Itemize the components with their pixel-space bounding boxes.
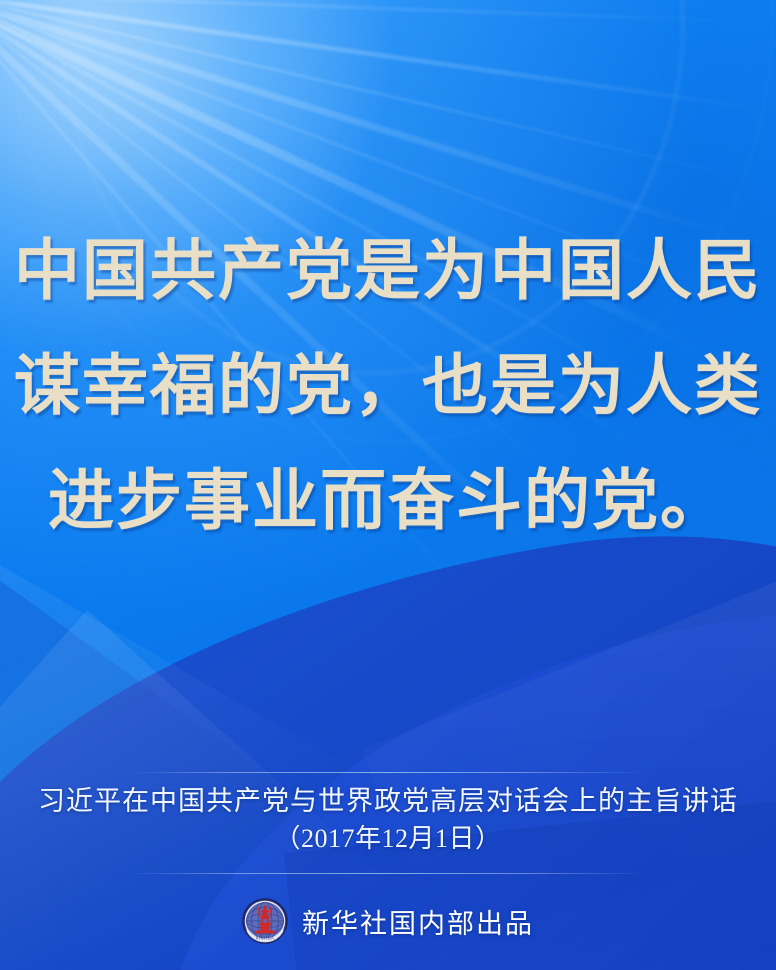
divider-bottom-icon: [128, 873, 648, 874]
attribution-date: （2017年12月1日）: [0, 820, 776, 858]
logo-rim-text: XINHUA: [256, 935, 275, 940]
footer-credit: XINHUA 新华社国内部出品: [0, 898, 776, 944]
divider-top-icon: [128, 772, 648, 773]
attribution-source: 习近平在中国共产党与世界政党高层对话会上的主旨讲话: [0, 782, 776, 820]
xinhua-emblem-icon: XINHUA: [242, 898, 288, 944]
headline-line-2: 谋幸福的党，也是为人类: [0, 329, 776, 444]
headline-quote: 中国共产党是为中国人民 谋幸福的党，也是为人类 进步事业而奋斗的党。: [0, 214, 776, 559]
poster-canvas: 中国共产党是为中国人民 谋幸福的党，也是为人类 进步事业而奋斗的党。 习近平在中…: [0, 0, 776, 970]
headline-line-3: 进步事业而奋斗的党。: [0, 444, 776, 559]
headline-line-1: 中国共产党是为中国人民: [0, 214, 776, 329]
footer-text: 新华社国内部出品: [302, 902, 534, 941]
attribution-block: 习近平在中国共产党与世界政党高层对话会上的主旨讲话 （2017年12月1日）: [0, 782, 776, 858]
